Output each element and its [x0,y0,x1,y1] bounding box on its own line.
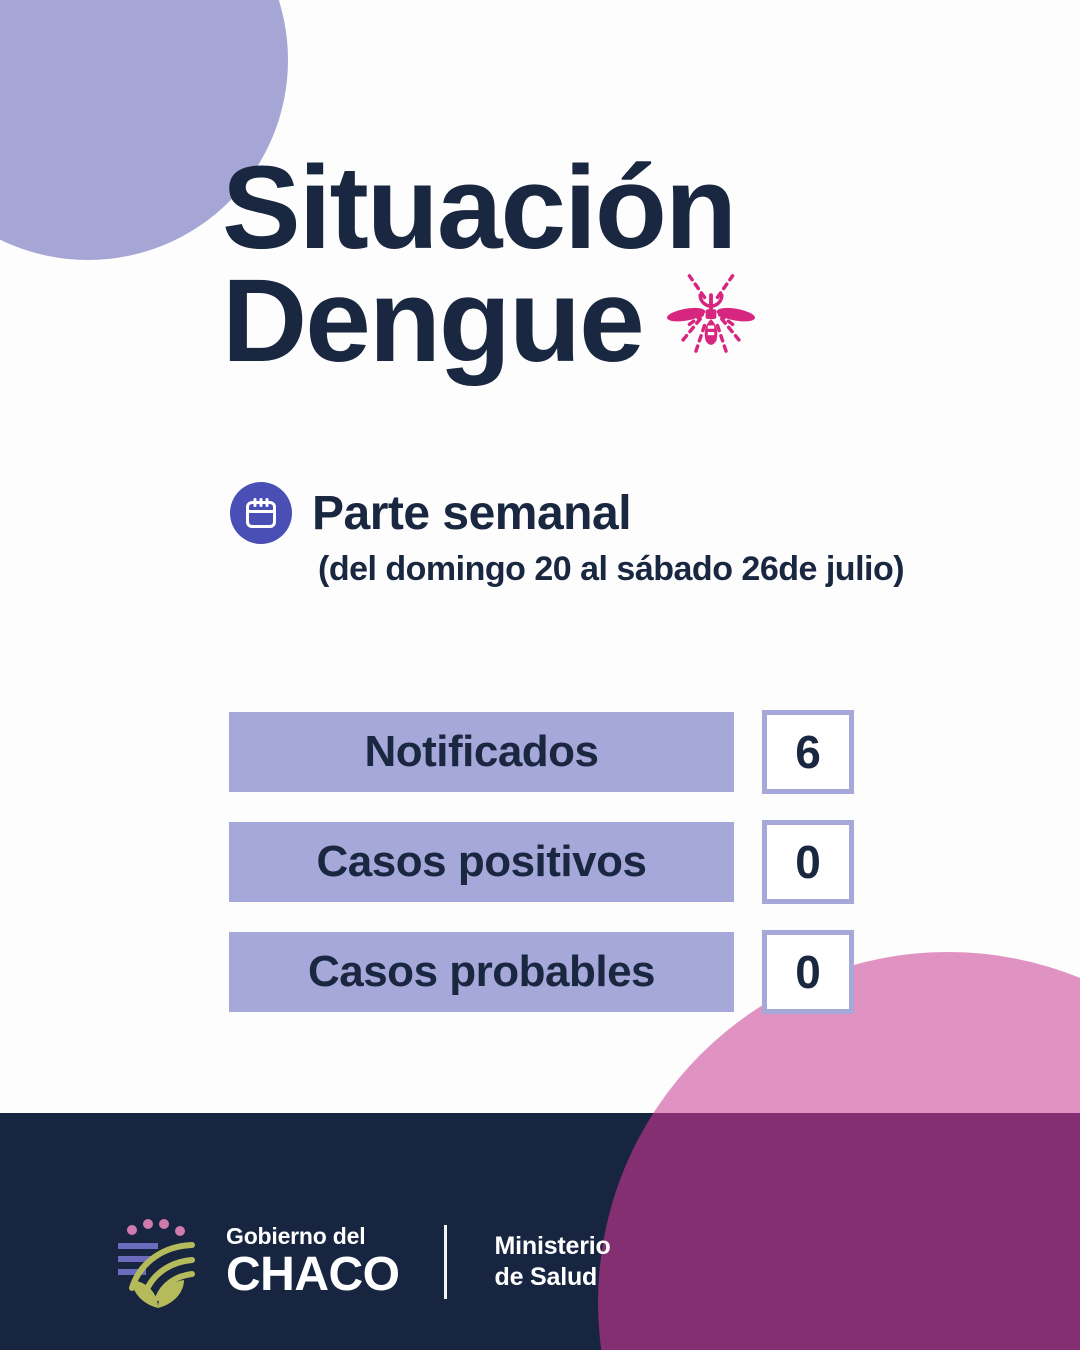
gov-small-label: Gobierno del [226,1224,400,1248]
logo-divider [444,1225,447,1299]
stat-label: Notificados [229,712,734,792]
stat-row-notificados: Notificados 6 [229,710,854,794]
subtitle-heading: Parte semanal [312,486,631,541]
page-title: Situación Dengue [222,152,922,379]
subtitle-dates: (del domingo 20 al sábado 26de julio) [318,550,990,589]
chaco-leaf-emblem-icon [112,1212,204,1312]
gov-big-label: CHACO [226,1251,400,1300]
stat-value: 0 [762,930,854,1014]
stats-list: Notificados 6 Casos positivos 0 Casos pr… [229,710,854,1040]
government-name: Gobierno del CHACO [226,1224,400,1299]
stat-row-casos-positivos: Casos positivos 0 [229,820,854,904]
stat-label: Casos probables [229,932,734,1012]
title-line-2-row: Dengue [222,265,922,378]
footer-logo: Gobierno del CHACO Ministerio de Salud [112,1212,611,1312]
stat-label: Casos positivos [229,822,734,902]
stat-row-casos-probables: Casos probables 0 [229,930,854,1014]
ministry-line-1: Ministerio [495,1231,611,1262]
ministry-line-2: de Salud [495,1262,611,1293]
stat-value: 0 [762,820,854,904]
poster-content: Situación Dengue [0,0,1080,1350]
stat-value: 6 [762,710,854,794]
ministry-name: Ministerio de Salud [495,1231,611,1294]
subtitle-row: Parte semanal [230,482,990,544]
calendar-icon [230,482,292,544]
title-line-2: Dengue [222,265,643,378]
poster-canvas: Situación Dengue [0,0,1080,1350]
subtitle-block: Parte semanal (del domingo 20 al sábado … [230,482,990,589]
mosquito-icon [657,265,765,373]
title-line-1: Situación [222,152,922,265]
